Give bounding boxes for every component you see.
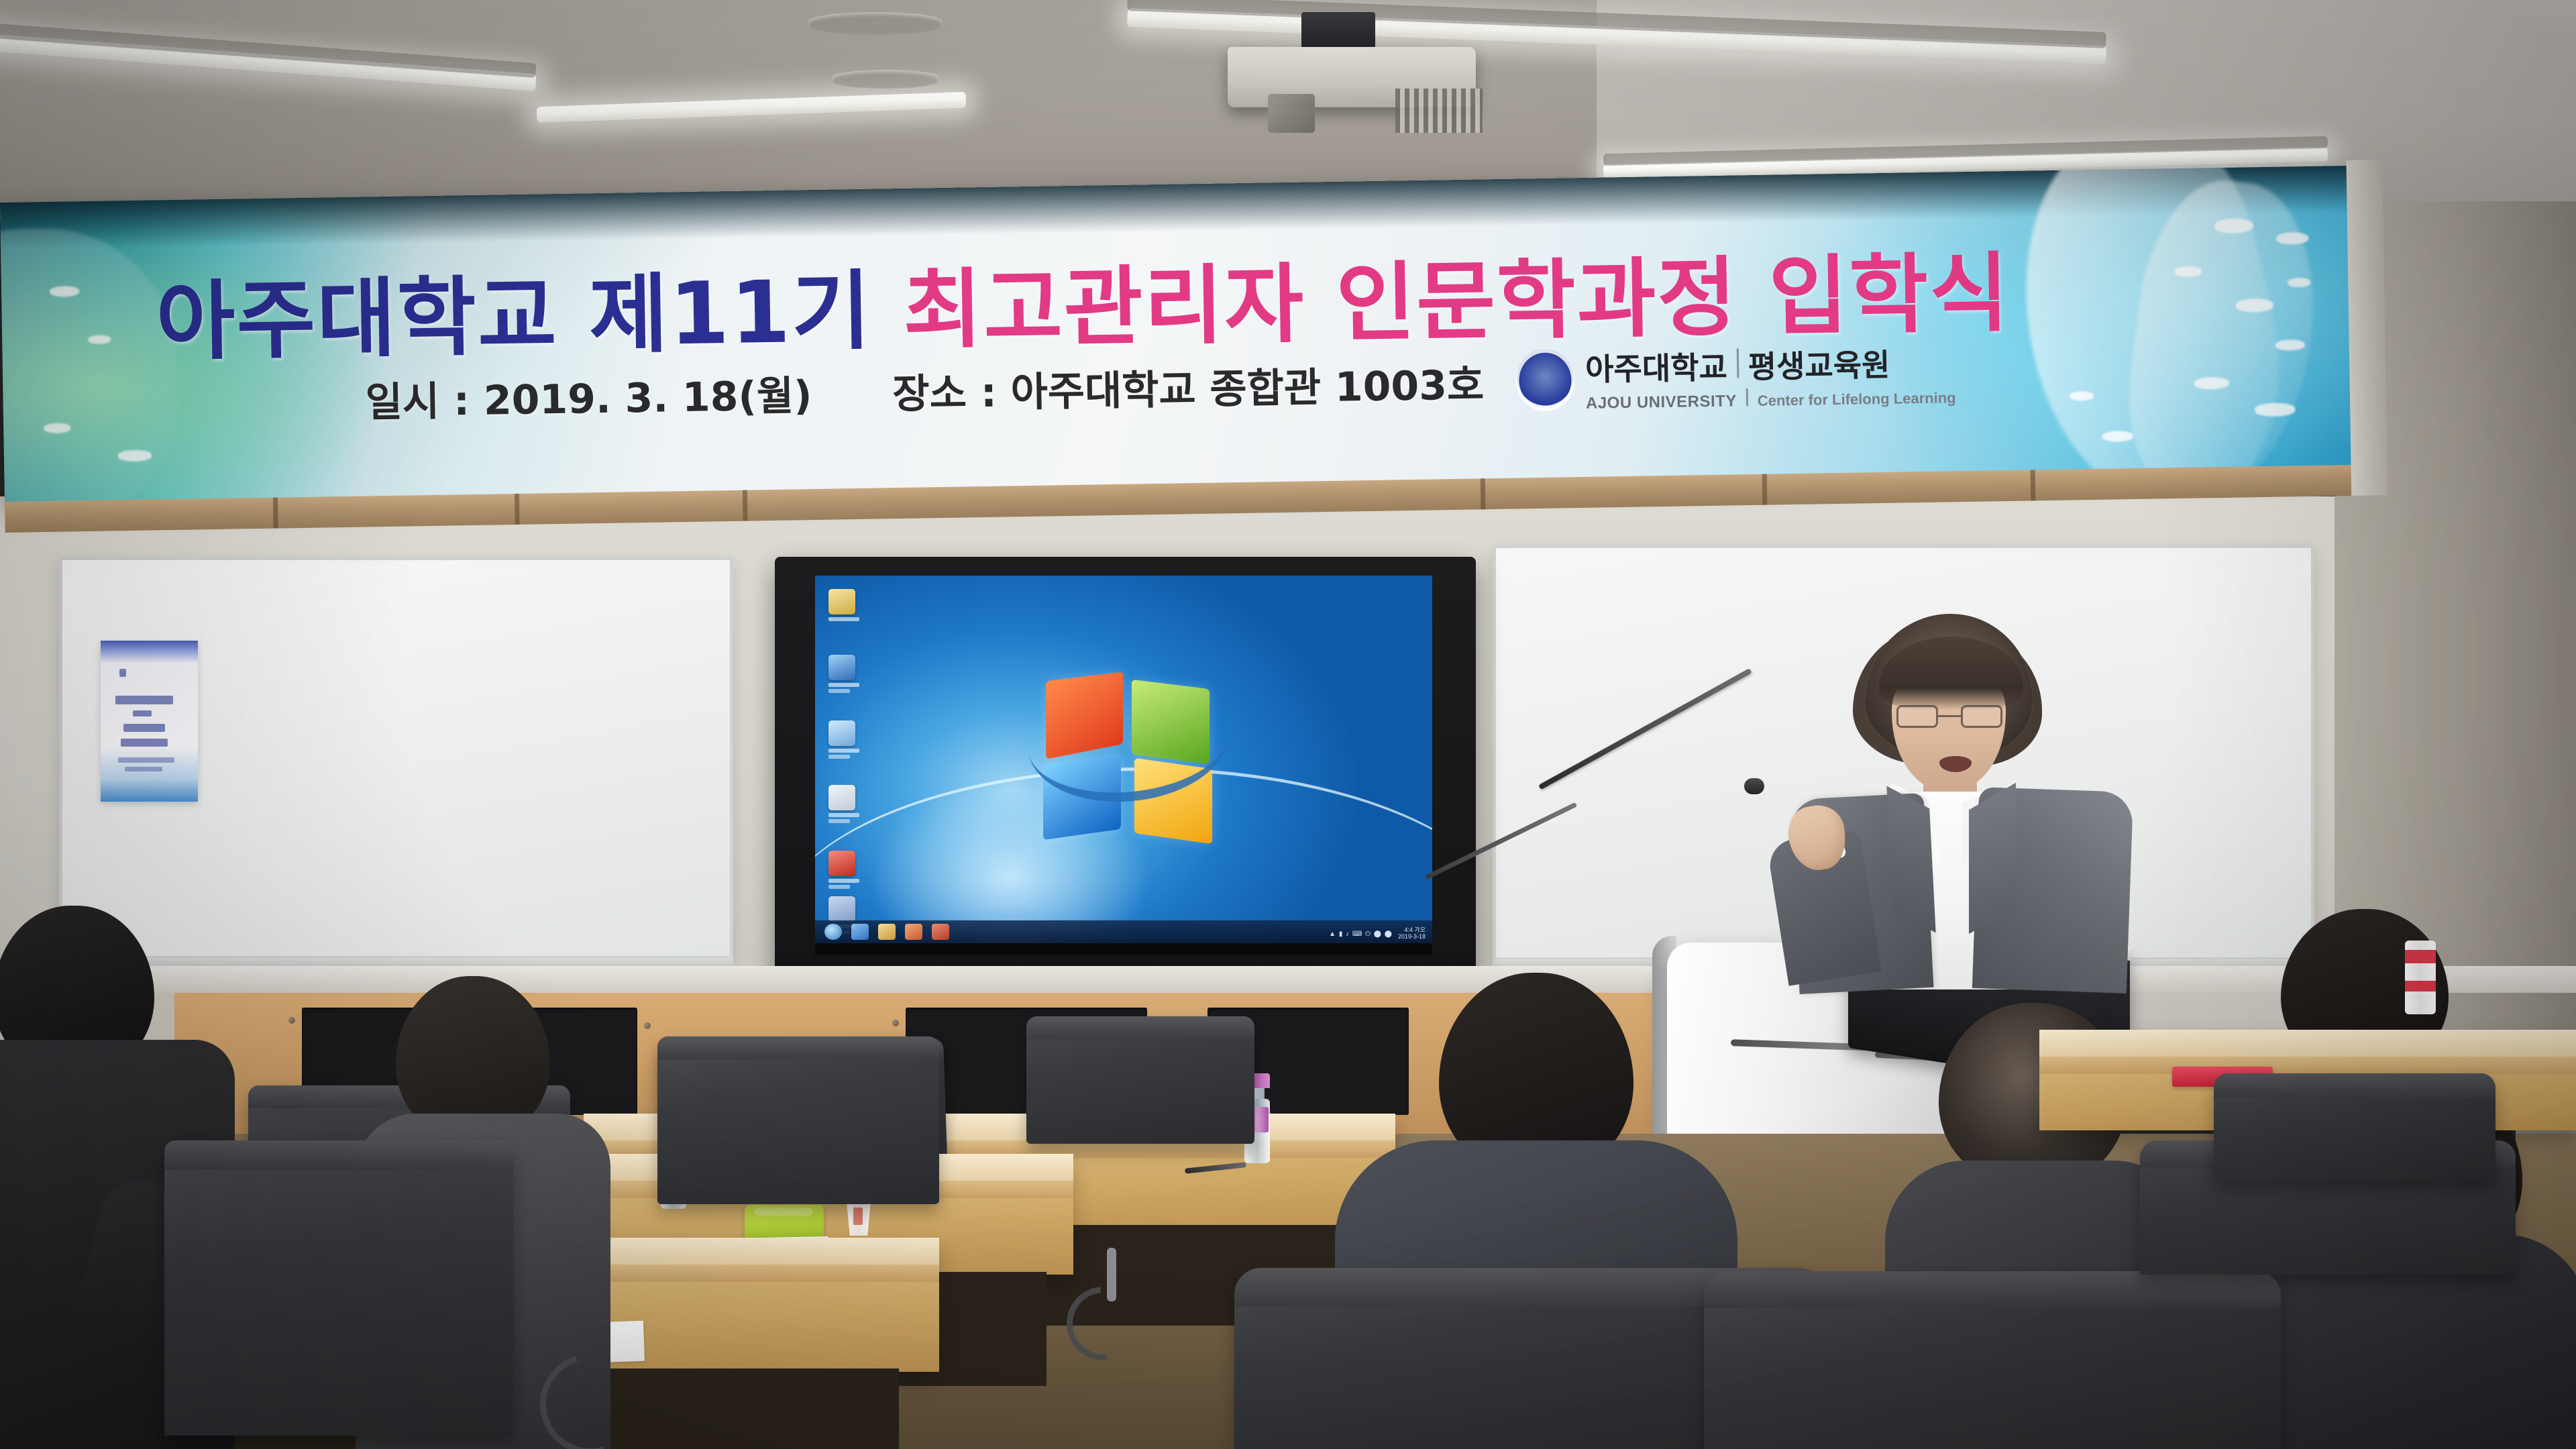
windows-taskbar[interactable]: ▲ ▮ ♪ ⌨ ⏻ ⬤ ⬤ 4:4 가오 2019-3-18 xyxy=(815,920,1432,943)
app-icon[interactable] xyxy=(932,924,949,940)
media-player-icon[interactable] xyxy=(905,924,922,940)
system-tray[interactable]: ▲ ▮ ♪ ⌨ ⏻ ⬤ ⬤ 4:4 가오 2019-3-18 xyxy=(1329,927,1426,941)
projector-vent-grill xyxy=(1395,89,1483,133)
audience-head xyxy=(396,976,550,1137)
desktop-icon[interactable] xyxy=(828,851,859,889)
chair[interactable] xyxy=(164,1140,513,1436)
logo-divider xyxy=(1736,348,1739,378)
projector-lens-icon xyxy=(1268,94,1315,133)
tray-icons[interactable]: ▲ ▮ ♪ ⌨ ⏻ ⬤ ⬤ xyxy=(1329,930,1393,938)
banner-bubble xyxy=(2275,339,2305,351)
internet-explorer-icon[interactable] xyxy=(851,924,869,940)
ceiling-projector xyxy=(1201,12,1489,113)
windows-logo-icon xyxy=(1043,676,1221,847)
chair[interactable] xyxy=(1026,1016,1254,1144)
explorer-folder-icon[interactable] xyxy=(878,924,896,940)
banner-bubble xyxy=(44,423,70,433)
ceiling-vent-1 xyxy=(808,12,943,35)
speaker-presenter xyxy=(1748,614,2137,989)
banner-bubble xyxy=(2070,391,2094,401)
banner-side-post xyxy=(2346,160,2387,496)
chair-post xyxy=(1107,1248,1116,1301)
banner-logo-block: 아주대학교 평생교육원 AJOU UNIVERSITY Center for L… xyxy=(1515,339,1956,414)
ajou-seal-icon xyxy=(1515,349,1575,411)
banner-bubble xyxy=(50,286,79,297)
banner-bubble xyxy=(88,335,111,344)
monitor-bezel-strip xyxy=(815,943,1432,957)
banner-place: 장소 : 아주대학교 종합관 1003호 xyxy=(892,362,1485,418)
chair[interactable] xyxy=(2214,1073,2495,1181)
monitor-screen[interactable]: ▲ ▮ ♪ ⌨ ⏻ ⬤ ⬤ 4:4 가오 2019-3-18 xyxy=(815,576,1432,943)
chair[interactable] xyxy=(657,1036,939,1204)
banner-date: 일시 : 2019. 3. 18(월) xyxy=(365,372,812,426)
banner-surface: 아주대학교 제11기 최고관리자 인문학과정 입학식 일시 : 2019. 3.… xyxy=(0,166,2353,503)
banner-bubble xyxy=(2102,431,2133,442)
projector-body xyxy=(1228,47,1476,107)
logo-unit-kr: 평생교육원 xyxy=(1748,341,1890,387)
banner-bubble xyxy=(2236,299,2273,313)
ceiling-vent-2 xyxy=(832,70,939,89)
banner-bubble xyxy=(2288,278,2310,288)
desktop-icon[interactable] xyxy=(828,785,859,823)
logo-university-en: AJOU UNIVERSITY xyxy=(1586,392,1737,413)
logo-unit-en: Center for Lifelong Learning xyxy=(1758,389,1956,410)
desktop-icon[interactable] xyxy=(828,655,859,693)
desktop-icon[interactable] xyxy=(828,589,859,621)
tray-date: 2019-3-18 xyxy=(1398,934,1426,941)
wall-poster xyxy=(101,641,198,802)
banner-swirl-left xyxy=(0,227,179,503)
desktop-icon[interactable] xyxy=(828,720,859,759)
spray-bottle[interactable] xyxy=(2405,941,2436,1014)
logo-university-kr: 아주대학교 xyxy=(1585,343,1728,390)
glasses-icon xyxy=(1896,705,2002,729)
banner-bubble xyxy=(2276,232,2308,245)
logo-divider-2 xyxy=(1746,388,1748,406)
cabinet-knob[interactable] xyxy=(892,1020,899,1026)
cabinet-knob[interactable] xyxy=(644,1022,651,1029)
speaker-lapel-left xyxy=(1886,786,1935,933)
lecture-hall-photo: 아주대학교 제11기 최고관리자 인문학과정 입학식 일시 : 2019. 3.… xyxy=(0,0,2576,1449)
event-banner: 아주대학교 제11기 최고관리자 인문학과정 입학식 일시 : 2019. 3.… xyxy=(0,166,2366,525)
start-orb-icon[interactable] xyxy=(824,924,842,940)
display-monitor[interactable]: ▲ ▮ ♪ ⌨ ⏻ ⬤ ⬤ 4:4 가오 2019-3-18 TV xyxy=(775,557,1476,993)
banner-title-blue: 아주대학교 제11기 xyxy=(156,261,904,372)
chair[interactable] xyxy=(1704,1271,2281,1449)
